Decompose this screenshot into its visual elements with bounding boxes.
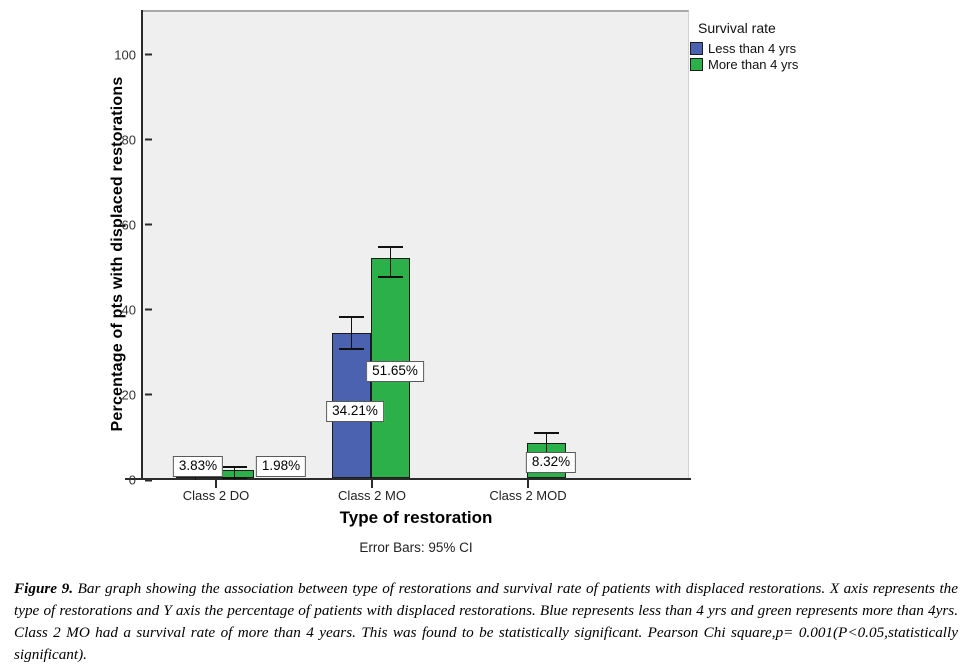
y-tick-0: 0: [129, 473, 143, 488]
x-tick-class2mod: [527, 480, 529, 488]
legend-swatch-blue-icon: [690, 42, 703, 55]
legend-title: Survival rate: [698, 20, 940, 36]
figure-number: Figure 9.: [14, 580, 73, 597]
figure-chart-area: Percentage of pts with displaced restora…: [0, 0, 972, 570]
x-category-class2mod: Class 2 MOD: [489, 488, 566, 503]
data-label-class2do-blue: 3.83%: [173, 456, 223, 477]
errorbar-cap-upper-class2mod-green: [534, 432, 559, 434]
plot-area: 100 80 60 40 20 0 3.83% 1.98%: [143, 10, 689, 478]
x-axis-title: Type of restoration: [143, 508, 689, 528]
errorbar-line-class2mo-blue: [351, 316, 352, 348]
data-label-class2do-green: 1.98%: [256, 456, 306, 477]
x-category-class2do: Class 2 DO: [183, 488, 249, 503]
y-tick-40: 40: [122, 302, 143, 317]
y-tick-20: 20: [122, 387, 143, 402]
y-tick-60: 60: [122, 217, 143, 232]
x-category-class2mo: Class 2 MO: [338, 488, 406, 503]
legend-swatch-green-icon: [690, 58, 703, 71]
legend-item-more-than-4yrs[interactable]: More than 4 yrs: [690, 57, 940, 72]
errorbar-cap-upper-class2mo-blue: [339, 316, 364, 318]
errorbar-cap-upper-class2mo-green: [378, 246, 403, 248]
y-tick-100: 100: [114, 47, 143, 62]
errorbar-line-class2mo-green: [390, 246, 391, 276]
y-axis-title: Percentage of pts with displaced restora…: [109, 19, 127, 489]
error-bars-note: Error Bars: 95% CI: [143, 540, 689, 555]
figure-caption: Figure 9. Bar graph showing the associat…: [14, 578, 958, 666]
errorbar-cap-upper-class2do-green: [222, 466, 247, 468]
data-label-class2mo-green: 51.65%: [366, 361, 424, 382]
x-tick-class2do: [215, 480, 217, 488]
data-label-class2mod-green: 8.32%: [526, 452, 576, 473]
errorbar-cap-lower-class2mo-blue: [339, 348, 364, 350]
figure-caption-text: Bar graph showing the association betwee…: [14, 580, 958, 663]
y-tick-80: 80: [122, 132, 143, 147]
data-label-class2mo-blue: 34.21%: [326, 401, 384, 422]
legend-label-less-than-4yrs: Less than 4 yrs: [708, 41, 796, 56]
x-tick-class2mo: [371, 480, 373, 488]
legend: Survival rate Less than 4 yrs More than …: [690, 12, 940, 73]
legend-label-more-than-4yrs: More than 4 yrs: [708, 57, 798, 72]
errorbar-cap-lower-class2do-green: [222, 477, 247, 479]
legend-item-less-than-4yrs[interactable]: Less than 4 yrs: [690, 41, 940, 56]
x-axis-line: [125, 478, 691, 480]
errorbar-cap-lower-class2mo-green: [378, 276, 403, 278]
